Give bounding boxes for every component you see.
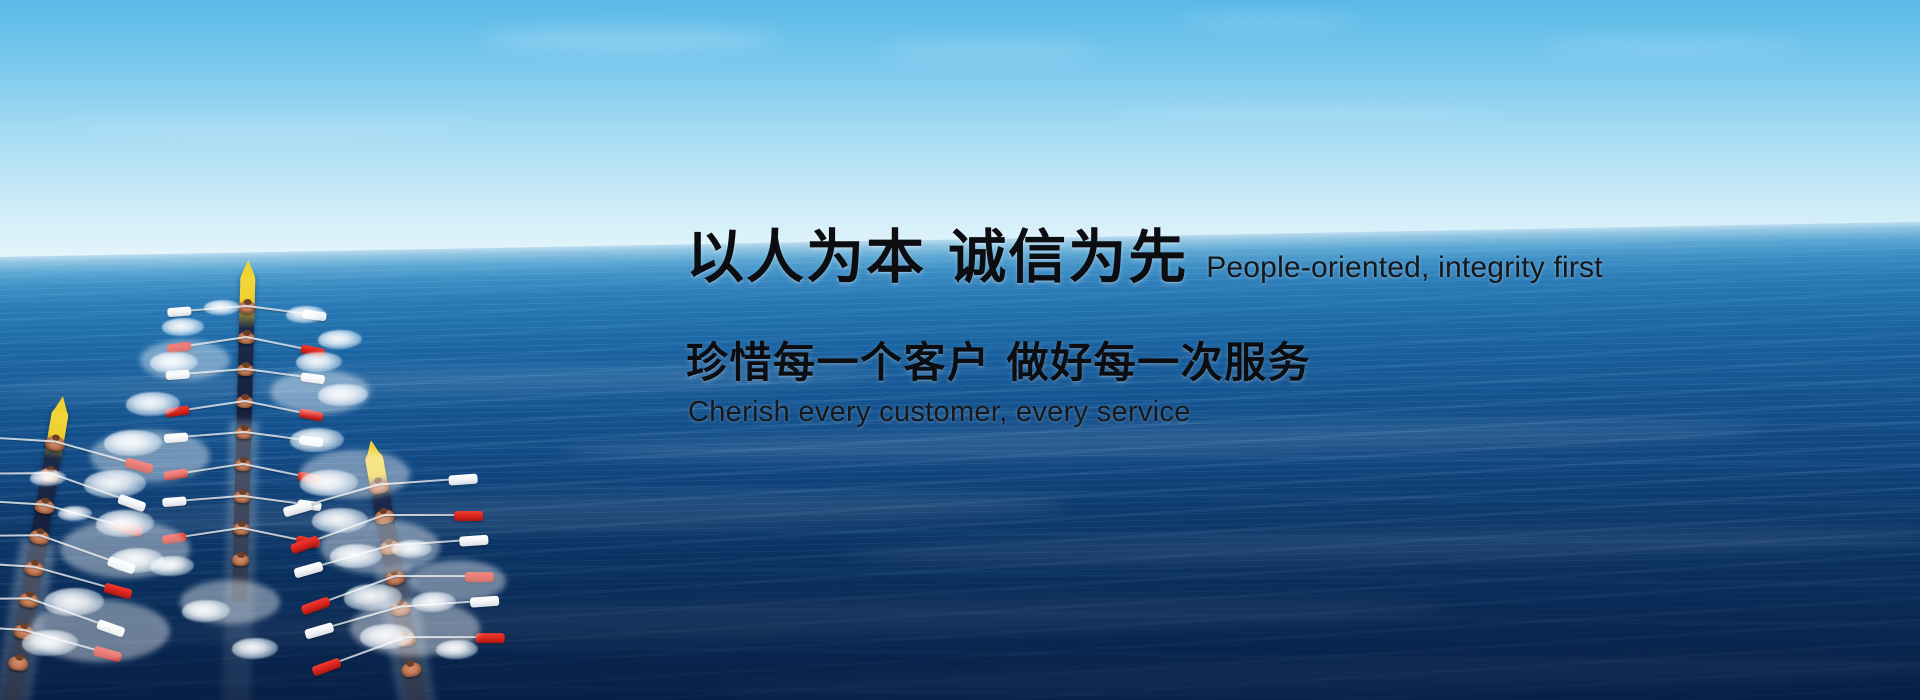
subline-row: 珍惜每一个客户 做好每一次服务 (686, 342, 1311, 384)
banner-copy: 以人为本 诚信为先 People-oriented, integrity fir… (0, 0, 1920, 700)
subline-english: Cherish every customer, every service (688, 396, 1191, 429)
headline-row: 以人为本 诚信为先 People-oriented, integrity fir… (686, 228, 1603, 286)
subline-chinese: 珍惜每一个客户 做好每一次服务 (686, 338, 1311, 387)
headline-chinese: 以人为本 诚信为先 (686, 228, 1188, 286)
hero-banner: 以人为本 诚信为先 People-oriented, integrity fir… (0, 0, 1920, 700)
headline-english: People-oriented, integrity first (1206, 251, 1603, 285)
